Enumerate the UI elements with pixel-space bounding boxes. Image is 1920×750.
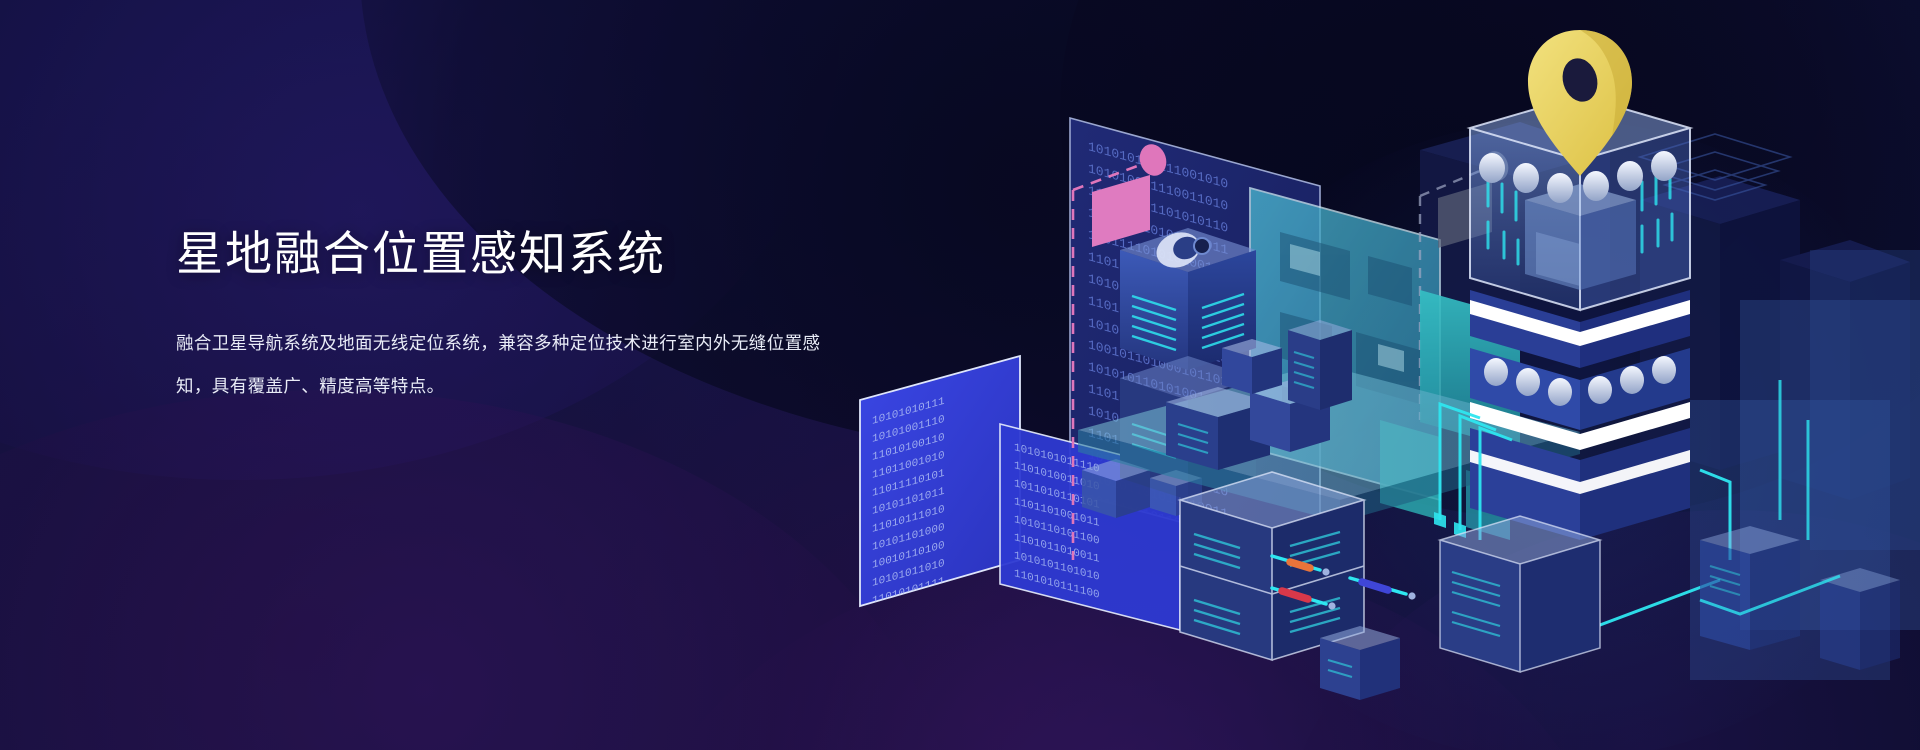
server-rack-right — [1440, 516, 1600, 672]
server-rack-left — [1180, 472, 1364, 660]
hero-description: 融合卫星导航系统及地面无线定位系统，兼容多种定位技术进行室内外无缝位置感知，具有… — [176, 322, 836, 408]
hero-banner: 星地融合位置感知系统 融合卫星导航系统及地面无线定位系统，兼容多种定位技术进行室… — [0, 0, 1920, 750]
hero-illustration: 101010101111001010 101010001110011010 11… — [820, 0, 1920, 750]
data-panel-binary-front: 10101010111 10101001110 11010100110 1101… — [860, 356, 1020, 608]
server-rack-small — [1320, 626, 1400, 700]
page-title: 星地融合位置感知系统 — [176, 226, 876, 282]
hero-copy-block: 星地融合位置感知系统 融合卫星导航系统及地面无线定位系统，兼容多种定位技术进行室… — [176, 226, 876, 408]
background-blob-bottom-left — [0, 390, 950, 750]
